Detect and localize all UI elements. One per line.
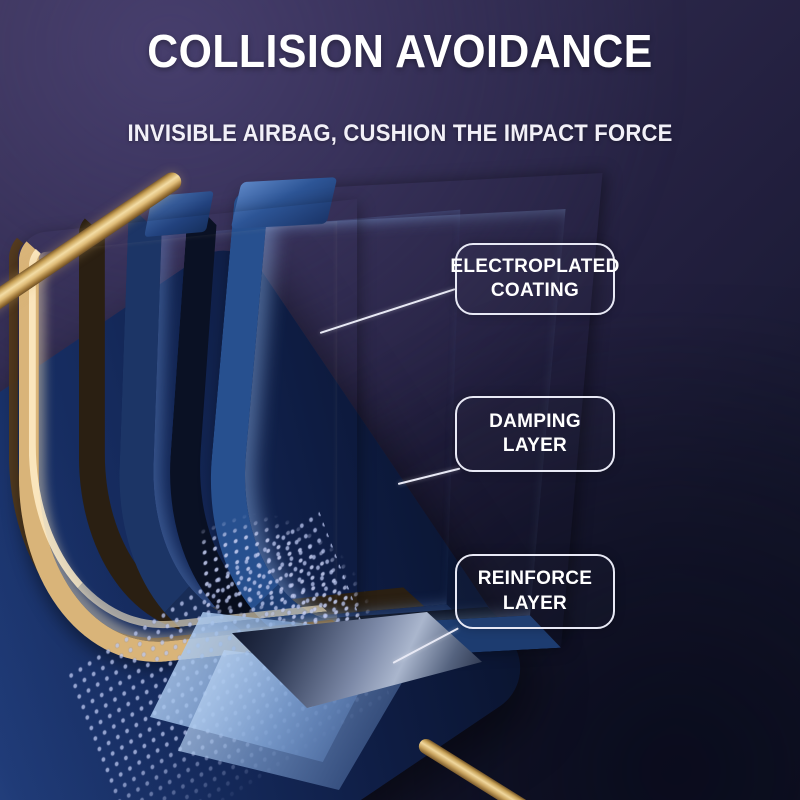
callout-reinforce-layer[interactable]: REINFORCE LAYER — [455, 554, 615, 629]
callout-line-1: DAMPING — [489, 410, 581, 434]
gold-rim-bar-bottom — [416, 736, 644, 800]
page-subtitle: INVISIBLE AIRBAG, CUSHION THE IMPACT FOR… — [32, 120, 768, 148]
callout-line-2: COATING — [491, 279, 579, 303]
callout-line-1: REINFORCE — [478, 567, 593, 591]
callout-electroplated-coating[interactable]: ELECTROPLATED COATING — [455, 243, 615, 315]
callout-line-2: LAYER — [503, 434, 567, 458]
callout-line-1: ELECTROPLATED — [450, 255, 619, 279]
callout-damping-layer[interactable]: DAMPING LAYER — [455, 396, 615, 472]
page-title: COLLISION AVOIDANCE — [28, 24, 772, 78]
callout-line-2: LAYER — [503, 592, 567, 616]
product-banner: COLLISION AVOIDANCE INVISIBLE AIRBAG, CU… — [0, 0, 800, 800]
